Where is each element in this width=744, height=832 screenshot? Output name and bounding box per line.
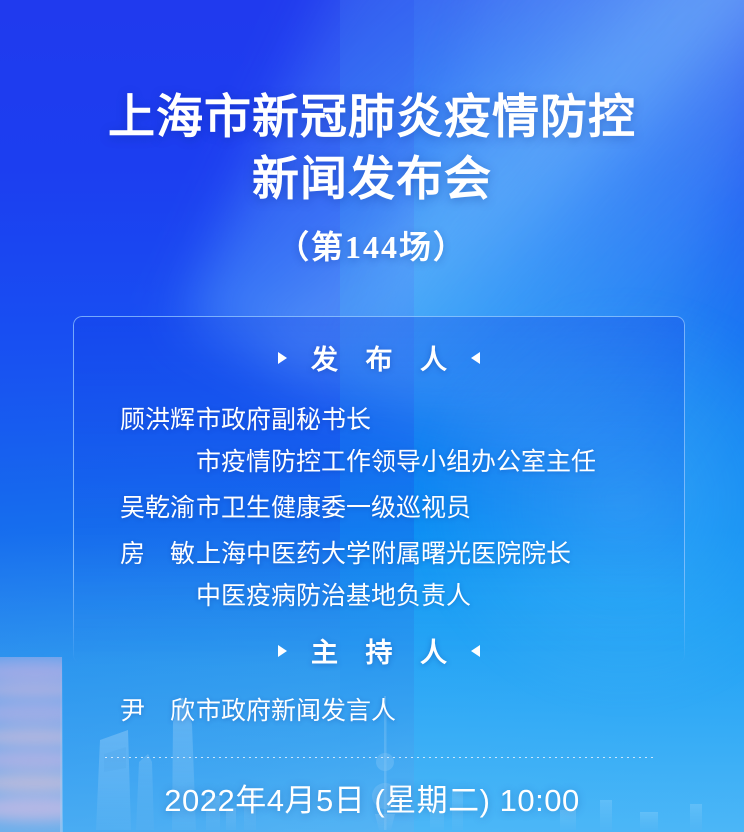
speaker-titles: 上海中医药大学附属曙光医院院长 中医疫病防治基地负责人 [196, 533, 571, 617]
speaker-row: 房 敏 上海中医药大学附属曙光医院院长 中医疫病防治基地负责人 [73, 533, 685, 617]
poster-root: 上海市新冠肺炎疫情防控 新闻发布会 （第144场） 发 布 人 顾洪辉 市政府副… [0, 0, 744, 832]
title-line-2: 新闻发布会 [0, 148, 744, 210]
speaker-titles: 市政府副秘书长 市疫情防控工作领导小组办公室主任 [196, 399, 596, 483]
dotted-divider [105, 757, 657, 758]
speakers-heading-label: 发 布 人 [301, 338, 457, 377]
speaker-titles: 市卫生健康委一级巡视员 [196, 487, 471, 529]
speaker-row: 顾洪辉 市政府副秘书长 市疫情防控工作领导小组办公室主任 [73, 399, 685, 483]
triangle-right-icon [278, 645, 287, 657]
host-row: 尹 欣 市政府新闻发言人 [73, 690, 685, 732]
speaker-row: 吴乾渝 市卫生健康委一级巡视员 [73, 487, 685, 529]
poster-subtitle: （第144场） [0, 222, 744, 268]
speaker-name: 房 敏 [73, 533, 196, 575]
speaker-title-line: 市政府副秘书长 [196, 399, 596, 441]
triangle-left-icon [471, 352, 480, 364]
speaker-title-line: 上海中医药大学附属曙光医院院长 [196, 533, 571, 575]
speaker-title-line: 市卫生健康委一级巡视员 [196, 487, 471, 529]
host-name: 尹 欣 [73, 690, 196, 732]
host-titles: 市政府新闻发言人 [196, 690, 396, 732]
triangle-left-icon [471, 645, 480, 657]
poster-title: 上海市新冠肺炎疫情防控 新闻发布会 （第144场） [0, 86, 744, 268]
speaker-panel-content: 发 布 人 顾洪辉 市政府副秘书长 市疫情防控工作领导小组办公室主任 吴乾渝 市… [73, 316, 685, 732]
speaker-name: 吴乾渝 [73, 487, 196, 529]
speaker-title-line: 市疫情防控工作领导小组办公室主任 [196, 441, 596, 483]
speaker-title-line: 中医疫病防治基地负责人 [196, 575, 571, 617]
triangle-right-icon [278, 352, 287, 364]
host-title-line: 市政府新闻发言人 [196, 690, 396, 732]
host-heading-label: 主 持 人 [301, 631, 457, 670]
event-datetime: 2022年4月5日 (星期二) 10:00 [0, 775, 744, 820]
speakers-heading: 发 布 人 [73, 338, 685, 377]
host-heading: 主 持 人 [73, 631, 685, 670]
speaker-name: 顾洪辉 [73, 399, 196, 441]
title-line-1: 上海市新冠肺炎疫情防控 [0, 86, 744, 148]
